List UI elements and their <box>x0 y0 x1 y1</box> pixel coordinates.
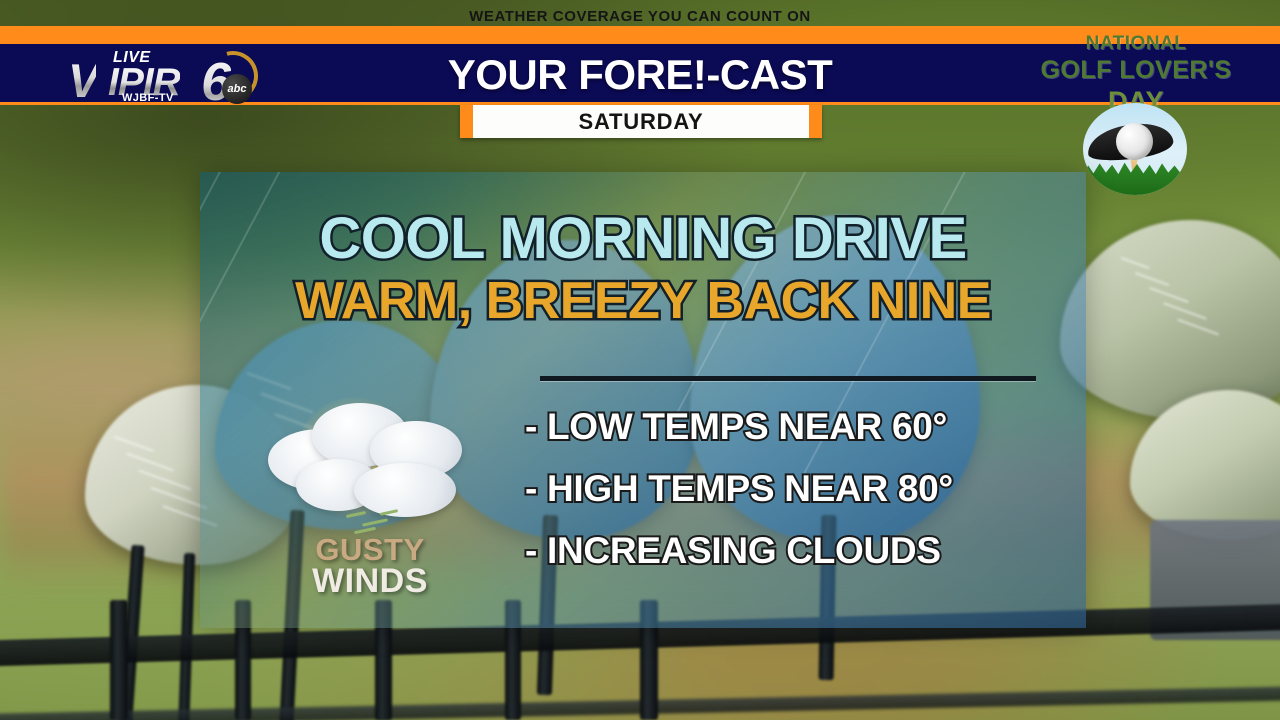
golf-ball-on-tee-icon <box>1083 103 1187 195</box>
divider <box>540 376 1036 381</box>
gusty-winds-line2: WINDS <box>262 565 478 598</box>
national-golf-lovers-day-logo: NATIONAL GOLF LOVER'S DAY <box>1030 26 1242 196</box>
day-label: SATURDAY <box>473 105 809 138</box>
list-item: - LOW TEMPS NEAR 60° <box>525 408 1065 445</box>
tagline-text: WEATHER COVERAGE YOU CAN COUNT ON <box>0 8 1280 26</box>
golf-logo-line1: NATIONAL <box>1030 26 1242 53</box>
golf-logo-line2: GOLF LOVER'S <box>1030 53 1242 83</box>
headline-primary: COOL MORNING DRIVE <box>200 210 1086 268</box>
golf-club-head-6 <box>1130 390 1280 540</box>
list-item: - HIGH TEMPS NEAR 80° <box>525 470 1065 507</box>
station-callsign: WJBF-TV <box>122 92 174 104</box>
abc-network-icon: abc <box>222 74 252 104</box>
headline-secondary: WARM, BREEZY BACK NINE <box>200 275 1086 327</box>
forecast-bullet-list: - LOW TEMPS NEAR 60° - HIGH TEMPS NEAR 8… <box>525 408 1065 594</box>
golf-ball-icon <box>1116 123 1153 160</box>
day-tab: SATURDAY <box>460 105 822 138</box>
station-logo: V LIVE IPIR WJBF-TV 6 abc <box>68 47 268 105</box>
list-item: - INCREASING CLOUDS <box>525 532 1065 569</box>
vipir-v-letter: V <box>68 53 96 108</box>
forecast-panel: COOL MORNING DRIVE WARM, BREEZY BACK NIN… <box>200 172 1086 628</box>
gusty-winds-block: GUSTY WINDS <box>250 377 490 592</box>
gusty-winds-label: GUSTY WINDS <box>262 535 478 597</box>
